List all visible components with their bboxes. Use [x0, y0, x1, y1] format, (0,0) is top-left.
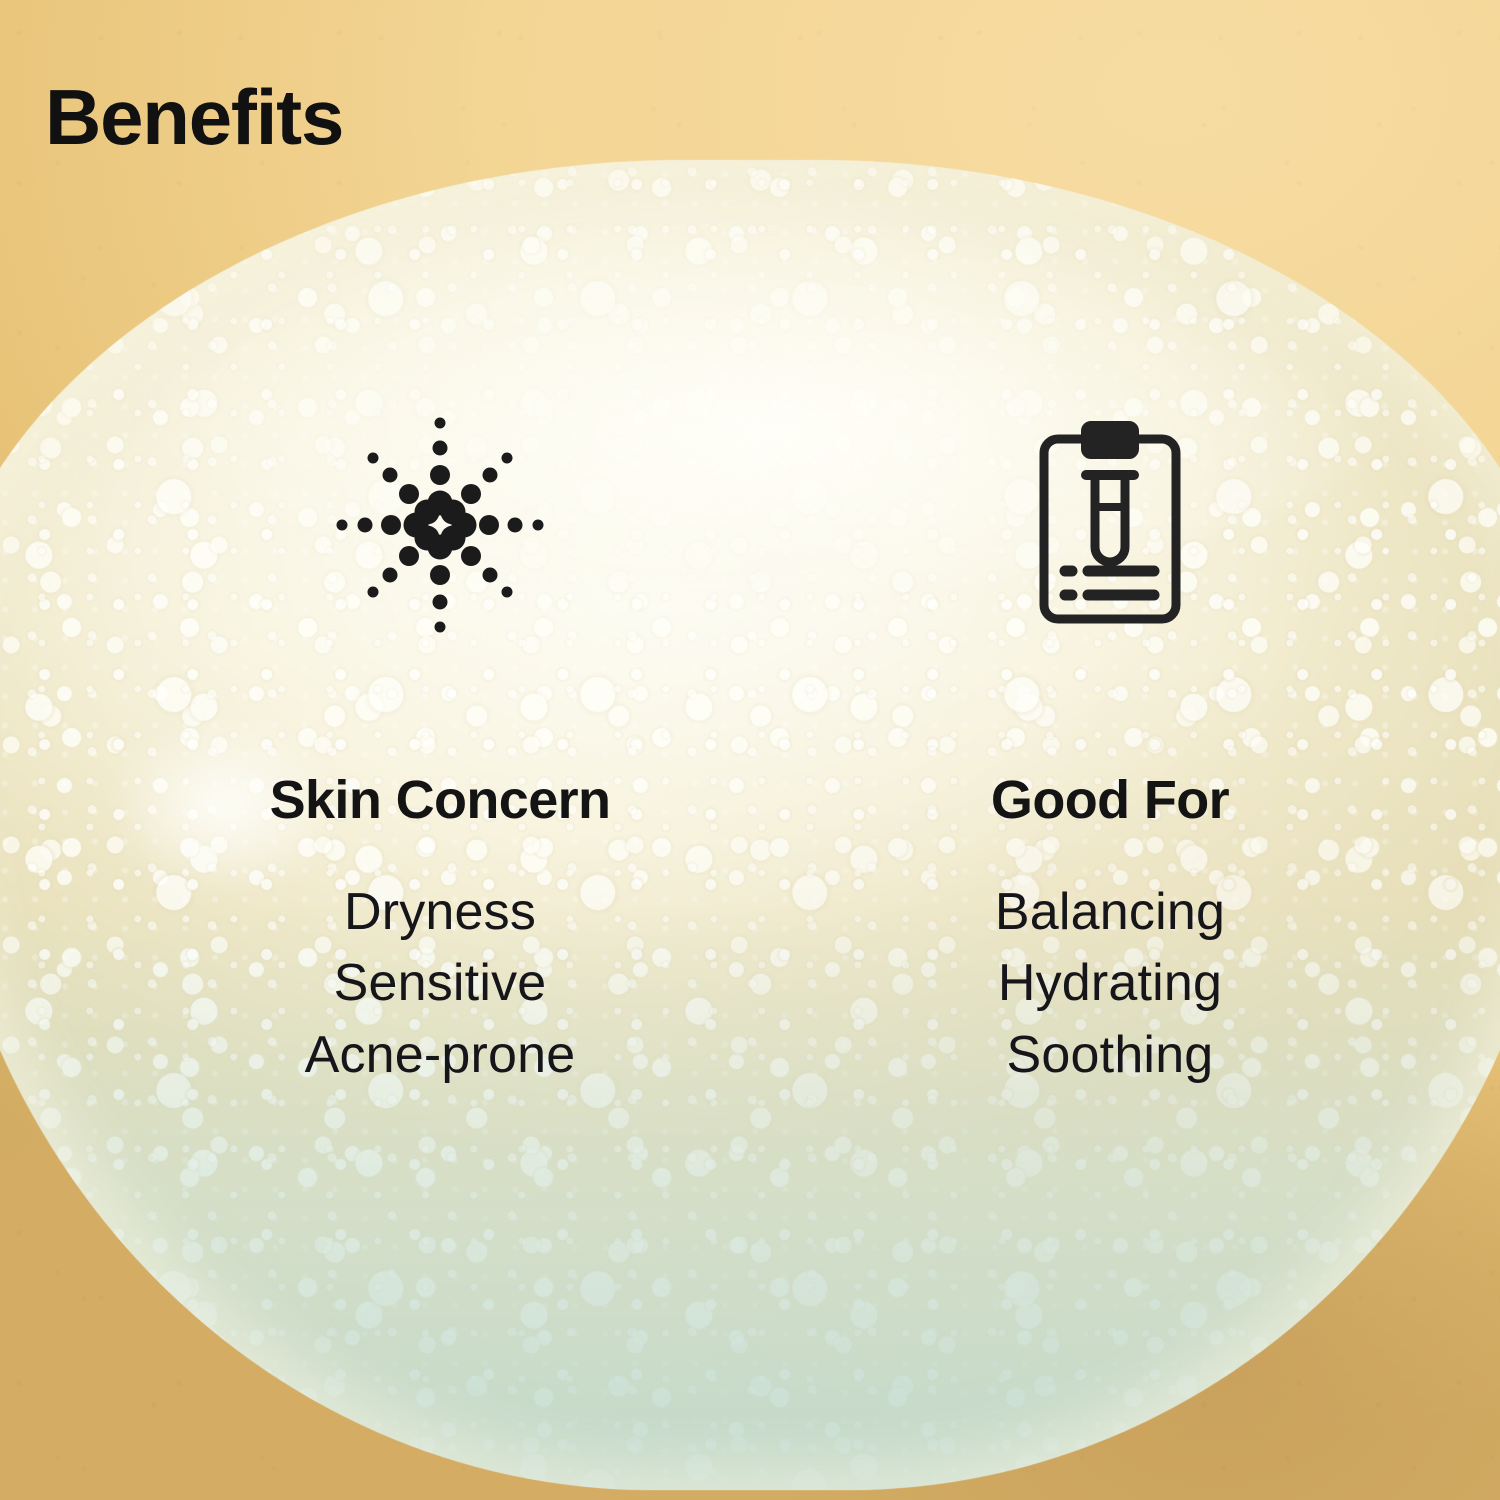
column-heading: Skin Concern	[150, 772, 730, 829]
benefits-infographic: Benefits	[0, 0, 1500, 1500]
list-item: Sensitive	[150, 948, 730, 1020]
column-list: Dryness Sensitive Acne-prone	[150, 877, 730, 1092]
list-item: Balancing	[860, 877, 1360, 949]
page-title: Benefits	[45, 78, 343, 156]
sparkle-dots-icon	[150, 400, 730, 650]
column-heading: Good For	[860, 772, 1360, 829]
clipboard-test-tube-icon	[860, 400, 1360, 650]
column-list: Balancing Hydrating Soothing	[860, 877, 1360, 1092]
list-item: Acne-prone	[150, 1020, 730, 1092]
list-item: Dryness	[150, 877, 730, 949]
list-item: Soothing	[860, 1020, 1360, 1092]
benefit-column-skin-concern: Skin Concern Dryness Sensitive Acne-pron…	[150, 400, 730, 1092]
list-item: Hydrating	[860, 948, 1360, 1020]
content-layer: Benefits	[0, 0, 1500, 1500]
benefit-column-good-for: Good For Balancing Hydrating Soothing	[860, 400, 1360, 1092]
